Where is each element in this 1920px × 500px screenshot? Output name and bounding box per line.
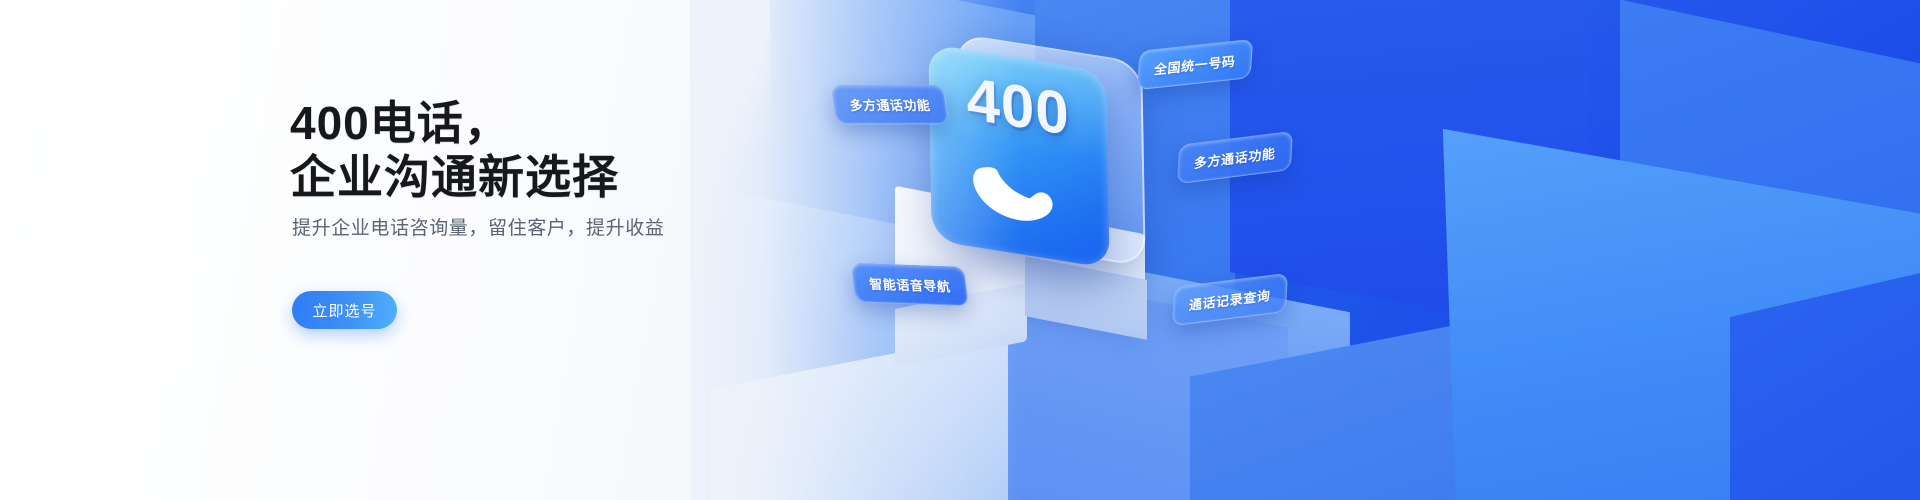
headline-line-2: 企业沟通新选择	[290, 150, 619, 204]
hero-banner: 400 多方通话功能 全国统一号码 多方通话功能 智能语音导航 通话记录查询 4…	[0, 0, 1920, 500]
feature-tag-smart-voice-navigation[interactable]: 智能语音导航	[851, 263, 969, 306]
card-400: 400	[928, 44, 1109, 269]
banner-subtitle: 提升企业电话咨询量，留住客户，提升收益	[292, 215, 664, 243]
card-400-number: 400	[929, 58, 1108, 155]
page-title: 400电话， 企业沟通新选择	[290, 96, 619, 204]
select-number-button[interactable]: 立即选号	[292, 291, 397, 329]
phone-handset-icon	[970, 164, 1069, 228]
isometric-3d-scene: 400 多方通话功能 全国统一号码 多方通话功能 智能语音导航 通话记录查询	[690, 0, 1920, 500]
headline-line-1: 400电话，	[290, 97, 511, 149]
banner-copy: 400电话， 企业沟通新选择 提升企业电话咨询量，留住客户，提升收益 立即选号	[290, 0, 850, 500]
